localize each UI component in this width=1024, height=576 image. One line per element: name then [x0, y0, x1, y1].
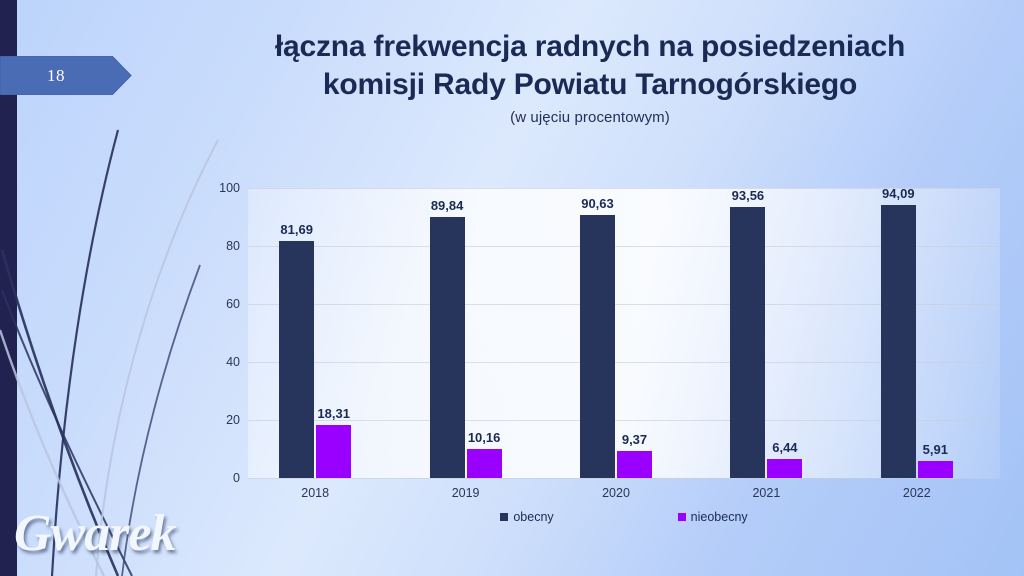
x-axis-tick-label: 2021 [752, 486, 780, 500]
x-axis-tick-label: 2019 [452, 486, 480, 500]
bar-value-label: 6,44 [772, 440, 797, 455]
bar-nieobecny-2021[interactable] [767, 459, 802, 478]
bars-layer: 81,6918,3189,8410,1690,639,3793,566,4494… [248, 188, 1000, 478]
y-axis-tick-label: 100 [210, 181, 240, 195]
presentation-slide: 18 łączna frekwencja radnych na posiedze… [0, 0, 1024, 576]
bar-obecny-2020[interactable] [580, 215, 615, 478]
slide-title-block: łączna frekwencja radnych na posiedzenia… [150, 28, 1024, 126]
bar-nieobecny-2020[interactable] [617, 451, 652, 478]
y-axis-tick-label: 20 [210, 413, 240, 427]
bar-nieobecny-2022[interactable] [918, 461, 953, 478]
bar-value-label: 18,31 [317, 406, 350, 421]
y-axis-tick-label: 60 [210, 297, 240, 311]
legend-swatch-icon [678, 513, 686, 521]
bar-obecny-2018[interactable] [279, 241, 314, 478]
bar-nieobecny-2018[interactable] [316, 425, 351, 478]
x-axis-tick-label: 2018 [301, 486, 329, 500]
bar-obecny-2021[interactable] [730, 207, 765, 478]
legend-label: nieobecny [691, 510, 748, 524]
bar-obecny-2019[interactable] [430, 217, 465, 478]
bar-nieobecny-2019[interactable] [467, 449, 502, 478]
gridline [248, 478, 1000, 479]
page-title-line-2: komisji Rady Powiatu Tarnogórskiego [150, 66, 1024, 104]
legend-swatch-icon [500, 513, 508, 521]
bar-value-label: 81,69 [280, 222, 313, 237]
bar-value-label: 10,16 [468, 430, 501, 445]
page-subtitle: (w ujęciu procentowym) [150, 109, 1024, 126]
bar-obecny-2022[interactable] [881, 205, 916, 478]
x-axis-tick-label: 2022 [903, 486, 931, 500]
legend-item-obecny[interactable]: obecny [500, 510, 553, 524]
bar-value-label: 90,63 [581, 196, 614, 211]
watermark-text: Gwarek [14, 504, 176, 563]
y-axis-tick-label: 40 [210, 355, 240, 369]
chart-legend: obecnynieobecny [248, 508, 1000, 526]
legend-label: obecny [513, 510, 553, 524]
legend-item-nieobecny[interactable]: nieobecny [678, 510, 748, 524]
page-number-text: 18 [0, 56, 112, 95]
bar-value-label: 89,84 [431, 198, 464, 213]
bar-value-label: 94,09 [882, 186, 915, 201]
x-axis-tick-label: 2020 [602, 486, 630, 500]
y-axis-tick-label: 0 [210, 471, 240, 485]
bar-value-label: 9,37 [622, 432, 647, 447]
page-title-line-1: łączna frekwencja radnych na posiedzenia… [150, 28, 1024, 66]
page-number-badge: 18 [0, 56, 132, 95]
bar-chart: 020406080100 81,6918,3189,8410,1690,639,… [210, 170, 1010, 540]
bar-value-label: 93,56 [732, 188, 765, 203]
bar-value-label: 5,91 [923, 442, 948, 457]
watermark-logo: Gwarek [8, 500, 198, 570]
y-axis-tick-label: 80 [210, 239, 240, 253]
